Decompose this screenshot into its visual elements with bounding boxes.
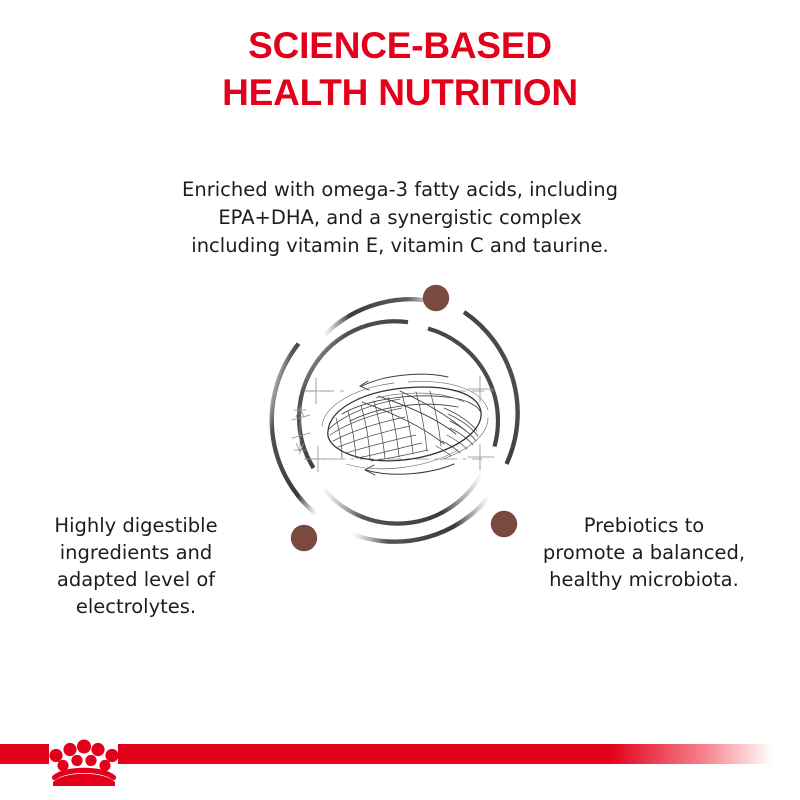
intro-line-1: Enriched with omega-3 fatty acids, inclu… bbox=[100, 176, 700, 204]
caption-left: Highly digestible ingredients and adapte… bbox=[22, 512, 250, 620]
caption-right-line-3: healthy microbiota. bbox=[527, 566, 761, 593]
page-title: SCIENCE-BASED HEALTH NUTRITION bbox=[0, 22, 800, 116]
caption-left-line-2: ingredients and bbox=[22, 539, 250, 566]
intro-paragraph: Enriched with omega-3 fatty acids, inclu… bbox=[100, 176, 700, 260]
title-line-1: SCIENCE-BASED bbox=[0, 22, 800, 69]
orbit-dot-bottom-right bbox=[491, 511, 517, 537]
intro-line-3: including vitamin E, vitamin C and tauri… bbox=[100, 232, 700, 260]
outer-arc-top bbox=[325, 299, 440, 335]
caption-left-line-3: adapted level of bbox=[22, 566, 250, 593]
orbit-dot-bottom-left bbox=[291, 525, 317, 551]
crown-dots bbox=[49, 740, 118, 772]
caption-left-line-1: Highly digestible bbox=[22, 512, 250, 539]
orbit-dots bbox=[291, 285, 517, 551]
orbit-dot-top bbox=[423, 285, 449, 311]
caption-right: Prebiotics to promote a balanced, health… bbox=[527, 512, 761, 593]
caption-right-line-2: promote a balanced, bbox=[527, 539, 761, 566]
royal-canin-crown-logo bbox=[48, 736, 120, 786]
inner-arc-bottom bbox=[322, 473, 482, 524]
footer bbox=[0, 736, 800, 800]
infographic-canvas: SCIENCE-BASED HEALTH NUTRITION Enriched … bbox=[0, 0, 800, 800]
caption-left-line-4: electrolytes. bbox=[22, 593, 250, 620]
footer-bar-right bbox=[118, 744, 800, 764]
caption-right-line-1: Prebiotics to bbox=[527, 512, 761, 539]
intro-line-2: EPA+DHA, and a synergistic complex bbox=[100, 204, 700, 232]
kibble-sketch bbox=[292, 374, 494, 475]
footer-bar-left bbox=[0, 744, 49, 764]
kibble-orbit-diagram bbox=[258, 268, 548, 568]
title-line-2: HEALTH NUTRITION bbox=[0, 69, 800, 116]
kibble-shading bbox=[436, 408, 478, 456]
